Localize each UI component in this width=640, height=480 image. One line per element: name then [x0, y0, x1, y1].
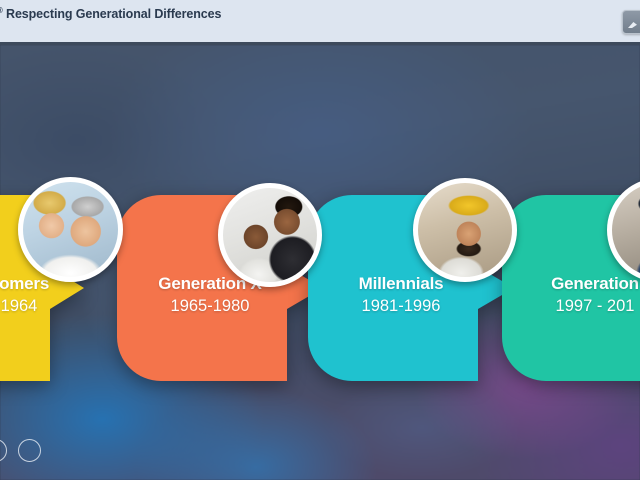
slide-pagination — [0, 439, 41, 462]
page-title: Briefs® Respecting Generational Differen… — [0, 6, 221, 21]
pagination-dot-2[interactable] — [18, 439, 41, 462]
pagination-dot-1[interactable] — [0, 439, 7, 462]
baby-boomers-avatar[interactable] — [18, 177, 123, 282]
millennials-avatar[interactable] — [413, 178, 517, 282]
generation-x-avatar[interactable] — [218, 183, 322, 287]
young-person-photo — [612, 183, 640, 277]
generation-z-avatar[interactable] — [607, 178, 640, 282]
worker-hardhat-photo — [418, 183, 512, 277]
toolbar-button[interactable] — [622, 10, 640, 34]
presentation-slide-viewer: Briefs® Respecting Generational Differen… — [0, 0, 640, 480]
couple-photo — [223, 188, 317, 282]
generations-timeline: oomers 1964 Generation X 1965-1980 — [0, 45, 640, 480]
older-couple-photo — [23, 182, 118, 277]
page-title-rest: Respecting Generational Differences — [3, 7, 222, 21]
header-bar: Briefs® Respecting Generational Differen… — [0, 0, 640, 45]
cursor-icon — [628, 22, 637, 28]
